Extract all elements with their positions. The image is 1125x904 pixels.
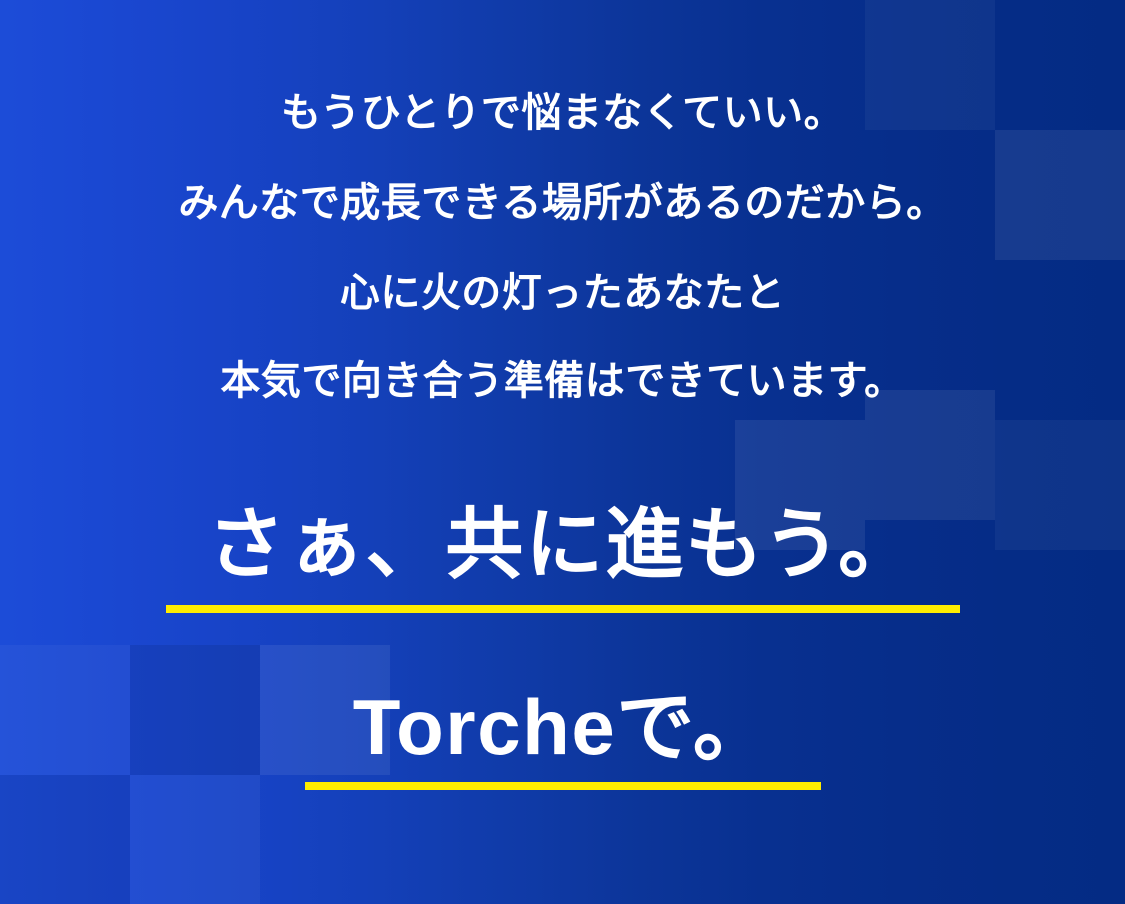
slide-content: もうひとりで悩まなくていい。 みんなで成長できる場所があるのだから。 心に火の灯… xyxy=(0,0,1125,904)
headline-line-1: さぁ、共に進もう。 xyxy=(207,505,918,583)
lead-line-4: 本気で向き合う準備はできています。 xyxy=(0,361,1125,401)
lead-line-3: 心に火の灯ったあなたと xyxy=(0,273,1125,313)
headline-block-primary: さぁ、共に進もう。 xyxy=(0,505,1125,613)
slide-canvas: もうひとりで悩まなくていい。 みんなで成長できる場所があるのだから。 心に火の灯… xyxy=(0,0,1125,904)
lead-line-2: みんなで成長できる場所があるのだから。 xyxy=(0,183,1125,223)
headline-block-brand: Torcheで。 xyxy=(0,688,1125,790)
lead-line-1: もうひとりで悩まなくていい。 xyxy=(0,93,1125,133)
headline-underline-1 xyxy=(166,605,960,613)
headline-underline-2 xyxy=(305,782,821,790)
headline-line-2: Torcheで。 xyxy=(353,688,773,766)
